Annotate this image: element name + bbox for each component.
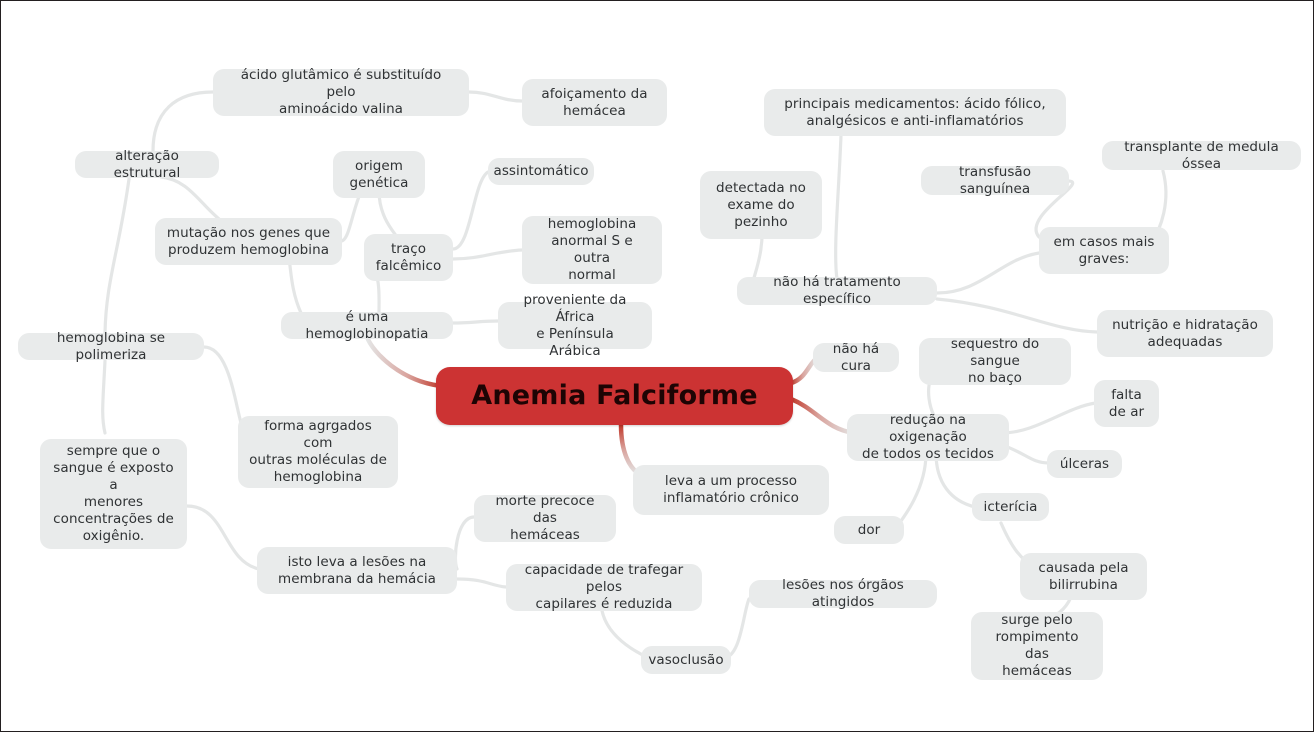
node-transfusao-sanguinea[interactable]: transfusão sanguínea [921, 166, 1069, 195]
node-isto-leva-lesoes[interactable]: isto leva a lesões na membrana da hemáci… [257, 547, 457, 594]
node-casos-mais-graves[interactable]: em casos mais graves: [1039, 227, 1169, 274]
node-hemoglobinopatia[interactable]: é uma hemoglobinopatia [281, 312, 453, 339]
node-nutricao-hidratacao[interactable]: nutrição e hidratação adequadas [1097, 310, 1273, 357]
node-hemoglobina-anormal[interactable]: hemoglobina anormal S e outra normal [522, 216, 662, 284]
node-dor[interactable]: dor [834, 516, 904, 544]
node-alteracao-estrutural[interactable]: alteração estrutural [75, 151, 219, 178]
node-principais-medicamentos[interactable]: principais medicamentos: ácido fólico, a… [764, 89, 1066, 136]
node-morte-precoce[interactable]: morte precoce das hemáceas [474, 495, 616, 542]
node-mutacao-genes[interactable]: mutação nos genes que produzem hemoglobi… [155, 218, 342, 265]
node-forma-agregados[interactable]: forma agrgados com outras moléculas de h… [238, 416, 398, 488]
node-transplante-medula[interactable]: transplante de medula óssea [1102, 141, 1301, 170]
root-node[interactable]: Anemia Falciforme [436, 367, 793, 425]
node-sempre-que-sangue[interactable]: sempre que o sangue é exposto a menores … [40, 439, 187, 549]
node-nao-ha-tratamento[interactable]: não há tratamento específico [737, 277, 937, 305]
mindmap-canvas: Anemia Falciforme ácido glutâmico é subs… [0, 0, 1314, 732]
node-ictericia[interactable]: icterícia [972, 493, 1049, 521]
node-detectada-exame-pezinho[interactable]: detectada no exame do pezinho [700, 171, 822, 239]
node-ulceras[interactable]: úlceras [1047, 450, 1122, 478]
node-origem-genetica[interactable]: origem genética [333, 151, 425, 198]
node-processo-inflamatorio[interactable]: leva a um processo inflamatório crônico [633, 465, 829, 515]
node-reducao-oxigenacao[interactable]: redução na oxigenação de todos os tecido… [847, 414, 1009, 461]
node-capacidade-trafegar[interactable]: capacidade de trafegar pelos capilares é… [506, 564, 702, 611]
node-causada-bilirrubina[interactable]: causada pela bilirrubina [1020, 553, 1147, 600]
node-vasoclusao[interactable]: vasoclusão [641, 646, 731, 674]
node-falta-de-ar[interactable]: falta de ar [1094, 380, 1159, 427]
node-proveniente-africa[interactable]: proveniente da África e Península Arábic… [498, 302, 652, 349]
node-surge-rompimento[interactable]: surge pelo rompimento das hemáceas [971, 612, 1103, 680]
node-sequestro-sangue-baco[interactable]: sequestro do sangue no baço [919, 338, 1071, 385]
node-nao-ha-cura[interactable]: não há cura [813, 343, 899, 372]
node-afoicamento[interactable]: afoiçamento da hemácea [522, 79, 667, 126]
node-lesoes-orgaos[interactable]: lesões nos órgãos atingidos [749, 580, 937, 608]
node-traco-falcemico[interactable]: traço falcêmico [364, 234, 453, 281]
node-assintomatico[interactable]: assintomático [488, 158, 594, 185]
node-hemoglobina-polimeriza[interactable]: hemoglobina se polimeriza [18, 333, 204, 360]
node-acido-glutamico[interactable]: ácido glutâmico é substituído pelo amino… [213, 69, 469, 116]
